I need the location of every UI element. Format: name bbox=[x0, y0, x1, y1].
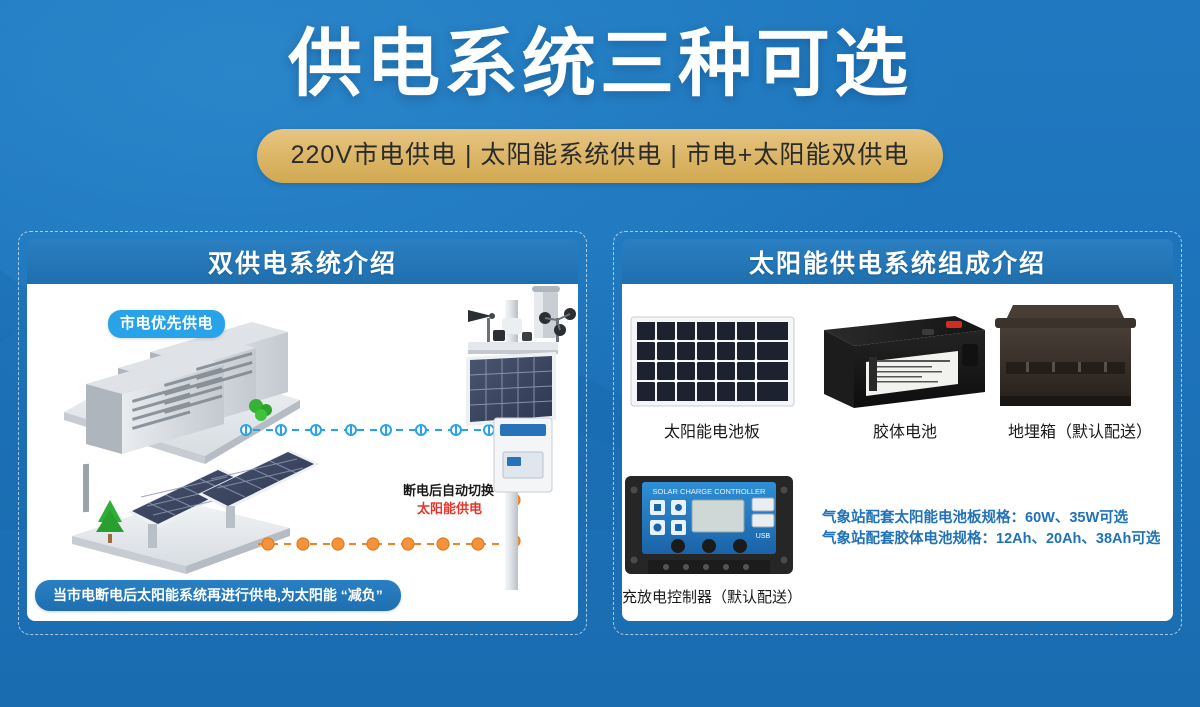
gel-battery-product-icon bbox=[824, 316, 985, 408]
product-label-gel-battery: 胶体电池 bbox=[805, 423, 1005, 443]
controller-usb-label: USB bbox=[756, 533, 771, 540]
right-panel-artwork: SOLAR CHARGE CONTROLLER USB bbox=[0, 0, 1200, 707]
charge-controller-product-icon: SOLAR CHARGE CONTROLLER USB bbox=[625, 476, 793, 574]
controller-faceplate-text: SOLAR CHARGE CONTROLLER bbox=[653, 487, 767, 496]
solar-panel-product-icon bbox=[631, 317, 794, 406]
page-root: 供电系统三种可选 220V市电供电 | 太阳能系统供电 | 市电+太阳能双供电 … bbox=[0, 0, 1200, 707]
product-label-solar-panel: 太阳能电池板 bbox=[612, 423, 812, 443]
spec-gel-battery: 气象站配套胶体电池规格：12Ah、20Ah、38Ah可选 bbox=[822, 529, 1160, 550]
caption-charge-controller: 充放电控制器（默认配送） bbox=[622, 588, 802, 608]
spec-solar-panel: 气象站配套太阳能电池板规格：60W、35W可选 bbox=[822, 508, 1128, 529]
product-label-underground-box: 地埋箱（默认配送） bbox=[985, 423, 1175, 443]
underground-box-product-icon bbox=[995, 305, 1136, 406]
